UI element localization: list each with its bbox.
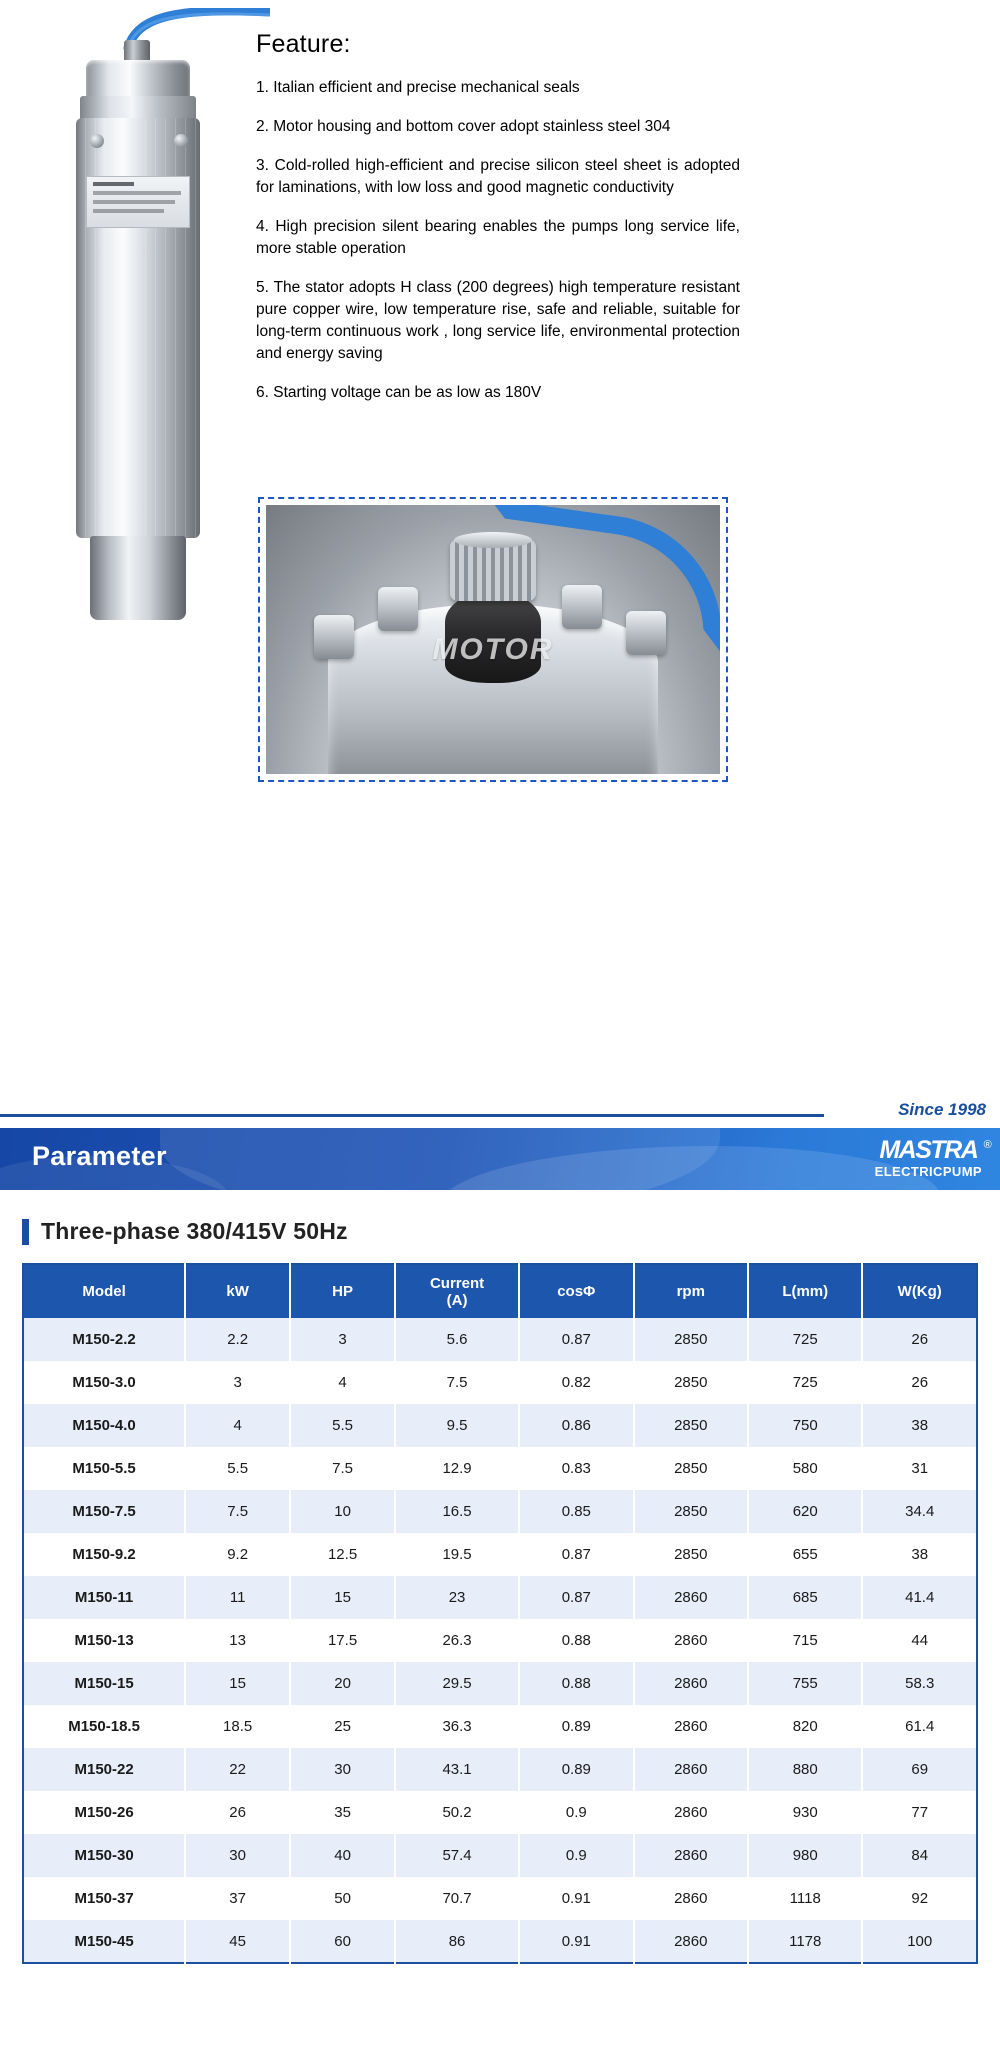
table-row: M150-18.518.52536.30.89286082061.4 — [23, 1705, 977, 1748]
table-cell-model: M150-5.5 — [23, 1447, 185, 1490]
table-cell-model: M150-3.0 — [23, 1361, 185, 1404]
table-cell-kw: 37 — [185, 1877, 290, 1920]
table-cell-cos: 0.91 — [519, 1920, 633, 1963]
table-cell-hp: 60 — [290, 1920, 395, 1963]
table-cell-cos: 0.89 — [519, 1748, 633, 1791]
table-cell-cos: 0.88 — [519, 1662, 633, 1705]
feature-item-3: 3. Cold-rolled high-efficient and precis… — [256, 155, 740, 199]
table-cell-cos: 0.9 — [519, 1791, 633, 1834]
table-cell-rpm: 2850 — [634, 1404, 748, 1447]
table-cell-current-a: 86 — [395, 1920, 519, 1963]
table-cell-kw: 30 — [185, 1834, 290, 1877]
table-cell-hp: 20 — [290, 1662, 395, 1705]
table-cell-cos: 0.82 — [519, 1361, 633, 1404]
table-cell-hp: 12.5 — [290, 1533, 395, 1576]
table-cell-rpm: 2860 — [634, 1834, 748, 1877]
table-cell-kw: 26 — [185, 1791, 290, 1834]
table-cell-w-kg: 84 — [862, 1834, 977, 1877]
motor-detail-photo-frame: MOTOR — [258, 497, 728, 782]
table-cell-model: M150-45 — [23, 1920, 185, 1963]
table-cell-cos: 0.91 — [519, 1877, 633, 1920]
table-cell-l-mm: 725 — [748, 1361, 862, 1404]
table-row: M150-7.57.51016.50.85285062034.4 — [23, 1490, 977, 1533]
table-body: M150-2.22.235.60.87285072526M150-3.0347.… — [23, 1318, 977, 1963]
table-cell-cos: 0.9 — [519, 1834, 633, 1877]
table-row: M150-9.29.212.519.50.87285065538 — [23, 1533, 977, 1576]
parameter-banner: Parameter MASTRA ® ELECTRICPUMP — [0, 1128, 1000, 1190]
registered-trademark-icon: ® — [984, 1133, 991, 1158]
table-cell-current-a: 19.5 — [395, 1533, 519, 1576]
table-cell-rpm: 2850 — [634, 1447, 748, 1490]
table-cell-rpm: 2860 — [634, 1920, 748, 1963]
table-cell-w-kg: 77 — [862, 1791, 977, 1834]
table-row: M150-131317.526.30.88286071544 — [23, 1619, 977, 1662]
brand-logo-subtitle: ELECTRICPUMP — [875, 1164, 982, 1179]
table-row: M150-454560860.9128601178100 — [23, 1920, 977, 1963]
table-cell-cos: 0.83 — [519, 1447, 633, 1490]
table-cell-w-kg: 41.4 — [862, 1576, 977, 1619]
table-header-cell-l-mm: L(mm) — [748, 1264, 862, 1318]
table-header-cell-kw: kW — [185, 1264, 290, 1318]
hex-bolt-icon — [314, 615, 354, 659]
table-cell-l-mm: 820 — [748, 1705, 862, 1748]
table-cell-kw: 22 — [185, 1748, 290, 1791]
table-cell-rpm: 2850 — [634, 1318, 748, 1361]
table-cell-hp: 5.5 — [290, 1404, 395, 1447]
table-cell-l-mm: 1118 — [748, 1877, 862, 1920]
table-cell-rpm: 2860 — [634, 1748, 748, 1791]
brand-logo: MASTRA ® ELECTRICPUMP — [875, 1138, 982, 1179]
table-cell-kw: 15 — [185, 1662, 290, 1705]
table-cell-rpm: 2860 — [634, 1705, 748, 1748]
table-cell-hp: 30 — [290, 1748, 395, 1791]
table-cell-w-kg: 38 — [862, 1404, 977, 1447]
table-cell-kw: 4 — [185, 1404, 290, 1447]
table-cell-kw: 7.5 — [185, 1490, 290, 1533]
table-row: M150-15152029.50.88286075558.3 — [23, 1662, 977, 1705]
spec-heading-text: Three-phase 380/415V 50Hz — [41, 1218, 348, 1245]
table-cell-l-mm: 655 — [748, 1533, 862, 1576]
table-cell-hp: 40 — [290, 1834, 395, 1877]
table-cell-w-kg: 92 — [862, 1877, 977, 1920]
parameter-banner-wrap: Since 1998 Parameter MASTRA ® ELECTRICPU… — [0, 1090, 1000, 1190]
table-cell-w-kg: 31 — [862, 1447, 977, 1490]
table-row: M150-30304057.40.9286098084 — [23, 1834, 977, 1877]
table-cell-hp: 25 — [290, 1705, 395, 1748]
table-header: ModelkWHPCurrent(A)cosΦrpmL(mm)W(Kg) — [23, 1264, 977, 1318]
table-cell-model: M150-9.2 — [23, 1533, 185, 1576]
table-cell-current-a: 43.1 — [395, 1748, 519, 1791]
table-cell-rpm: 2860 — [634, 1662, 748, 1705]
header-line1: Current — [430, 1275, 484, 1292]
spec-section-heading: Three-phase 380/415V 50Hz — [22, 1218, 1000, 1245]
table-cell-model: M150-2.2 — [23, 1318, 185, 1361]
table-cell-l-mm: 725 — [748, 1318, 862, 1361]
table-cell-model: M150-7.5 — [23, 1490, 185, 1533]
banner-title: Parameter — [32, 1141, 167, 1172]
table-row: M150-111115230.87286068541.4 — [23, 1576, 977, 1619]
table-cell-current-a: 5.6 — [395, 1318, 519, 1361]
brand-logo-text: MASTRA — [879, 1136, 977, 1164]
since-row: Since 1998 — [0, 1090, 1000, 1128]
table-row: M150-4.045.59.50.86285075038 — [23, 1404, 977, 1447]
table-cell-hp: 3 — [290, 1318, 395, 1361]
table-cell-cos: 0.85 — [519, 1490, 633, 1533]
table-row: M150-26263550.20.9286093077 — [23, 1791, 977, 1834]
feature-item-4: 4. High precision silent bearing enables… — [256, 216, 740, 260]
table-cell-hp: 7.5 — [290, 1447, 395, 1490]
table-cell-hp: 4 — [290, 1361, 395, 1404]
table-cell-cos: 0.87 — [519, 1318, 633, 1361]
table-cell-current-a: 57.4 — [395, 1834, 519, 1877]
table-cell-model: M150-18.5 — [23, 1705, 185, 1748]
table-cell-cos: 0.87 — [519, 1576, 633, 1619]
motor-bolt-icon — [90, 134, 104, 148]
table-cell-model: M150-4.0 — [23, 1404, 185, 1447]
hex-bolt-icon — [378, 587, 418, 631]
table-cell-w-kg: 69 — [862, 1748, 977, 1791]
specification-table: ModelkWHPCurrent(A)cosΦrpmL(mm)W(Kg) M15… — [22, 1263, 978, 1964]
table-cell-hp: 17.5 — [290, 1619, 395, 1662]
specification-section: Three-phase 380/415V 50Hz ModelkWHPCurre… — [0, 1218, 1000, 1964]
table-row: M150-37375070.70.912860111892 — [23, 1877, 977, 1920]
feature-item-6: 6. Starting voltage can be as low as 180… — [256, 382, 740, 404]
table-cell-l-mm: 1178 — [748, 1920, 862, 1963]
table-cell-hp: 35 — [290, 1791, 395, 1834]
table-cell-kw: 9.2 — [185, 1533, 290, 1576]
motor-bottom-cover-graphic — [90, 536, 186, 620]
table-cell-model: M150-15 — [23, 1662, 185, 1705]
table-cell-kw: 3 — [185, 1361, 290, 1404]
table-cell-l-mm: 880 — [748, 1748, 862, 1791]
table-cell-current-a: 23 — [395, 1576, 519, 1619]
table-cell-kw: 18.5 — [185, 1705, 290, 1748]
table-cell-current-a: 29.5 — [395, 1662, 519, 1705]
table-cell-w-kg: 26 — [862, 1318, 977, 1361]
table-cell-current-a: 36.3 — [395, 1705, 519, 1748]
table-cell-model: M150-37 — [23, 1877, 185, 1920]
table-cell-cos: 0.87 — [519, 1533, 633, 1576]
table-cell-rpm: 2860 — [634, 1619, 748, 1662]
table-cell-current-a: 16.5 — [395, 1490, 519, 1533]
table-cell-kw: 5.5 — [185, 1447, 290, 1490]
motor-nameplate-graphic — [86, 176, 190, 228]
table-cell-current-a: 50.2 — [395, 1791, 519, 1834]
brand-logo-mark: MASTRA ® — [879, 1138, 977, 1163]
table-cell-kw: 11 — [185, 1576, 290, 1619]
table-cell-rpm: 2850 — [634, 1490, 748, 1533]
table-cell-l-mm: 685 — [748, 1576, 862, 1619]
table-cell-current-a: 12.9 — [395, 1447, 519, 1490]
table-cell-model: M150-30 — [23, 1834, 185, 1877]
feature-item-5: 5. The stator adopts H class (200 degree… — [256, 277, 740, 365]
table-cell-w-kg: 61.4 — [862, 1705, 977, 1748]
table-header-cell-model: Model — [23, 1264, 185, 1318]
table-cell-current-a: 9.5 — [395, 1404, 519, 1447]
table-cell-rpm: 2850 — [634, 1533, 748, 1576]
table-cell-current-a: 26.3 — [395, 1619, 519, 1662]
table-cell-l-mm: 750 — [748, 1404, 862, 1447]
table-cell-cos: 0.89 — [519, 1705, 633, 1748]
table-cell-model: M150-11 — [23, 1576, 185, 1619]
feature-list-column: Feature: 1. Italian efficient and precis… — [256, 30, 740, 421]
table-row: M150-2.22.235.60.87285072526 — [23, 1318, 977, 1361]
table-cell-w-kg: 38 — [862, 1533, 977, 1576]
table-cell-l-mm: 715 — [748, 1619, 862, 1662]
table-cell-w-kg: 58.3 — [862, 1662, 977, 1705]
table-cell-w-kg: 44 — [862, 1619, 977, 1662]
table-cell-kw: 2.2 — [185, 1318, 290, 1361]
table-cell-w-kg: 34.4 — [862, 1490, 977, 1533]
table-cell-rpm: 2860 — [634, 1791, 748, 1834]
table-cell-cos: 0.88 — [519, 1619, 633, 1662]
table-header-cell-rpm: rpm — [634, 1264, 748, 1318]
product-overview-section: Feature: 1. Italian efficient and precis… — [0, 0, 1000, 1090]
table-cell-model: M150-13 — [23, 1619, 185, 1662]
table-cell-l-mm: 580 — [748, 1447, 862, 1490]
table-cell-l-mm: 980 — [748, 1834, 862, 1877]
feature-heading: Feature: — [256, 30, 740, 59]
table-row: M150-3.0347.50.82285072526 — [23, 1361, 977, 1404]
table-cell-model: M150-22 — [23, 1748, 185, 1791]
table-cell-current-a: 70.7 — [395, 1877, 519, 1920]
table-cell-current-a: 7.5 — [395, 1361, 519, 1404]
table-header-cell-cos: cosΦ — [519, 1264, 633, 1318]
table-cell-model: M150-26 — [23, 1791, 185, 1834]
table-cell-kw: 13 — [185, 1619, 290, 1662]
photo-watermark: MOTOR — [432, 633, 553, 667]
table-cell-cos: 0.86 — [519, 1404, 633, 1447]
product-photo-submersible-motor — [28, 8, 238, 628]
table-cell-l-mm: 620 — [748, 1490, 862, 1533]
since-label: Since 1998 — [898, 1100, 986, 1120]
table-cell-l-mm: 930 — [748, 1791, 862, 1834]
table-cell-w-kg: 100 — [862, 1920, 977, 1963]
table-header-cell-hp: HP — [290, 1264, 395, 1318]
table-cell-hp: 50 — [290, 1877, 395, 1920]
table-cell-w-kg: 26 — [862, 1361, 977, 1404]
table-row: M150-22223043.10.89286088069 — [23, 1748, 977, 1791]
table-cell-kw: 45 — [185, 1920, 290, 1963]
table-header-cell-current-a: Current(A) — [395, 1264, 519, 1318]
table-header-cell-w-kg: W(Kg) — [862, 1264, 977, 1318]
table-cell-rpm: 2850 — [634, 1361, 748, 1404]
motor-detail-photo: MOTOR — [266, 505, 720, 774]
feature-item-1: 1. Italian efficient and precise mechani… — [256, 77, 740, 99]
table-cell-rpm: 2860 — [634, 1877, 748, 1920]
table-cell-hp: 15 — [290, 1576, 395, 1619]
table-header-row: ModelkWHPCurrent(A)cosΦrpmL(mm)W(Kg) — [23, 1264, 977, 1318]
table-cell-hp: 10 — [290, 1490, 395, 1533]
motor-bolt-icon — [174, 134, 188, 148]
feature-item-2: 2. Motor housing and bottom cover adopt … — [256, 116, 740, 138]
table-cell-rpm: 2860 — [634, 1576, 748, 1619]
table-row: M150-5.55.57.512.90.83285058031 — [23, 1447, 977, 1490]
header-line2: (A) — [447, 1292, 468, 1309]
table-cell-l-mm: 755 — [748, 1662, 862, 1705]
since-divider-line — [0, 1114, 824, 1117]
heading-accent-bar — [22, 1219, 29, 1245]
